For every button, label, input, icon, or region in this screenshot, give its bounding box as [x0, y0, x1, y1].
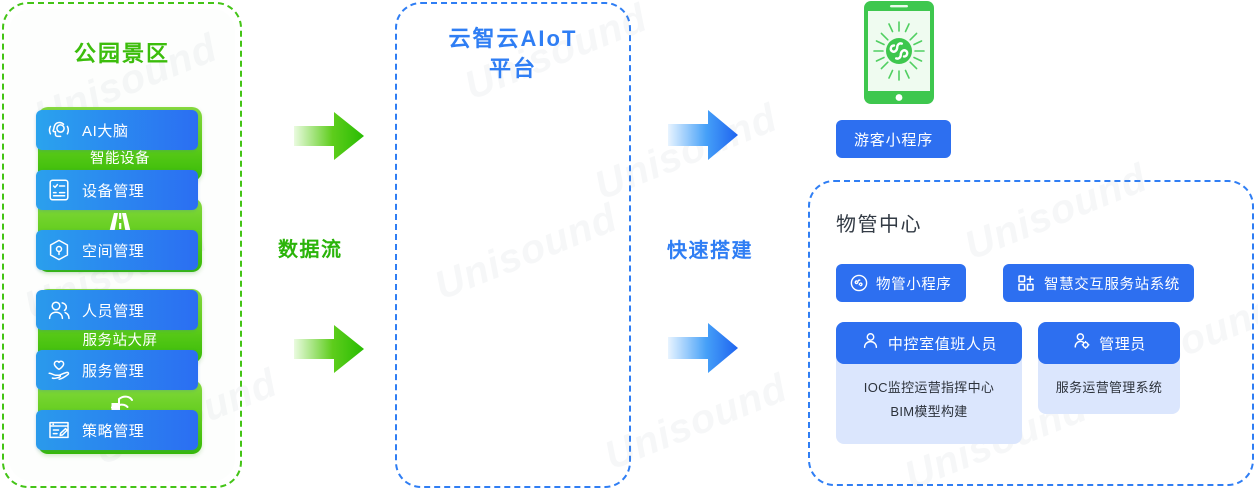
- stack-card-administrator: 管理员 服务运营管理系统: [1038, 322, 1180, 414]
- stack-card-body: IOC监控运营指挥中心 BIM模型构建: [856, 364, 1002, 434]
- center-item-label: 人员管理: [82, 300, 144, 321]
- person-gear-icon: [1072, 331, 1091, 355]
- stack-card-header[interactable]: 管理员: [1038, 322, 1180, 364]
- center-item-space-mgmt[interactable]: 空间管理: [36, 230, 198, 270]
- chip-label: 智慧交互服务站系统: [1044, 273, 1180, 294]
- aiot-title-line2: 平台: [395, 54, 631, 84]
- chip-smart-service-station[interactable]: 智慧交互服务站系统: [1003, 264, 1194, 302]
- center-item-people-mgmt[interactable]: 人员管理: [36, 290, 198, 330]
- center-item-device-mgmt[interactable]: 设备管理: [36, 170, 198, 210]
- stack-card-line: 服务运营管理系统: [1056, 376, 1162, 400]
- people-group-icon: [36, 298, 82, 322]
- property-center-title: 物管中心: [836, 208, 922, 237]
- stack-card-body: 服务运营管理系统: [1048, 364, 1170, 410]
- stack-card-header-label: 中控室值班人员: [888, 333, 997, 354]
- stack-card-header[interactable]: 中控室值班人员: [836, 322, 1022, 364]
- ai-brain-icon: [36, 118, 82, 142]
- center-item-ai-brain[interactable]: AI大脑: [36, 110, 198, 150]
- center-item-policy-mgmt[interactable]: 策略管理: [36, 410, 198, 450]
- center-item-label: 设备管理: [82, 180, 144, 201]
- clipboard-pen-icon: [36, 418, 82, 442]
- flow-arrow-blue-bottom: [668, 323, 738, 375]
- chip-label: 物管小程序: [876, 273, 952, 294]
- flow-arrow-blue-top: [668, 110, 738, 162]
- stack-card-line: IOC监控运营指挥中心: [864, 376, 994, 400]
- flow-label-fast-build: 快速搭建: [667, 234, 753, 263]
- center-item-service-mgmt[interactable]: 服务管理: [36, 350, 198, 390]
- aiot-title-line1: 云智云AIoT: [395, 24, 631, 54]
- center-item-label: 策略管理: [82, 420, 144, 441]
- center-item-label: 服务管理: [82, 360, 144, 381]
- miniprogram-icon: [850, 274, 868, 292]
- tourist-miniprogram-button[interactable]: 游客小程序: [836, 120, 951, 158]
- flow-label-data-stream: 数据流: [278, 233, 343, 262]
- cube-space-icon: [36, 238, 82, 262]
- device-list-icon: [36, 178, 82, 202]
- center-item-label: AI大脑: [82, 120, 129, 141]
- stack-card-line: BIM模型构建: [864, 400, 994, 424]
- left-item-label: 智能设备: [90, 152, 150, 167]
- tourist-miniprogram-label: 游客小程序: [854, 129, 933, 150]
- flow-arrow-green-top: [294, 112, 364, 162]
- grid-station-icon: [1017, 274, 1036, 292]
- infographic-canvas: Unisound Unisound Unisound Unisound Unis…: [0, 0, 1258, 490]
- heart-hand-icon: [36, 358, 82, 382]
- center-item-label: 空间管理: [82, 240, 144, 261]
- chip-property-miniprogram[interactable]: 物管小程序: [836, 264, 966, 302]
- stack-card-control-room: 中控室值班人员 IOC监控运营指挥中心 BIM模型构建: [836, 322, 1022, 444]
- wechat-miniprogram-phone-icon: [863, 0, 935, 105]
- aiot-platform-title: 云智云AIoT 平台: [395, 24, 631, 83]
- left-item-label: 服务站大屏: [83, 334, 158, 349]
- stack-card-header-label: 管理员: [1099, 333, 1146, 354]
- park-scenic-title: 公园景区: [2, 36, 242, 68]
- person-icon: [861, 331, 880, 355]
- flow-arrow-green-bottom: [294, 325, 364, 375]
